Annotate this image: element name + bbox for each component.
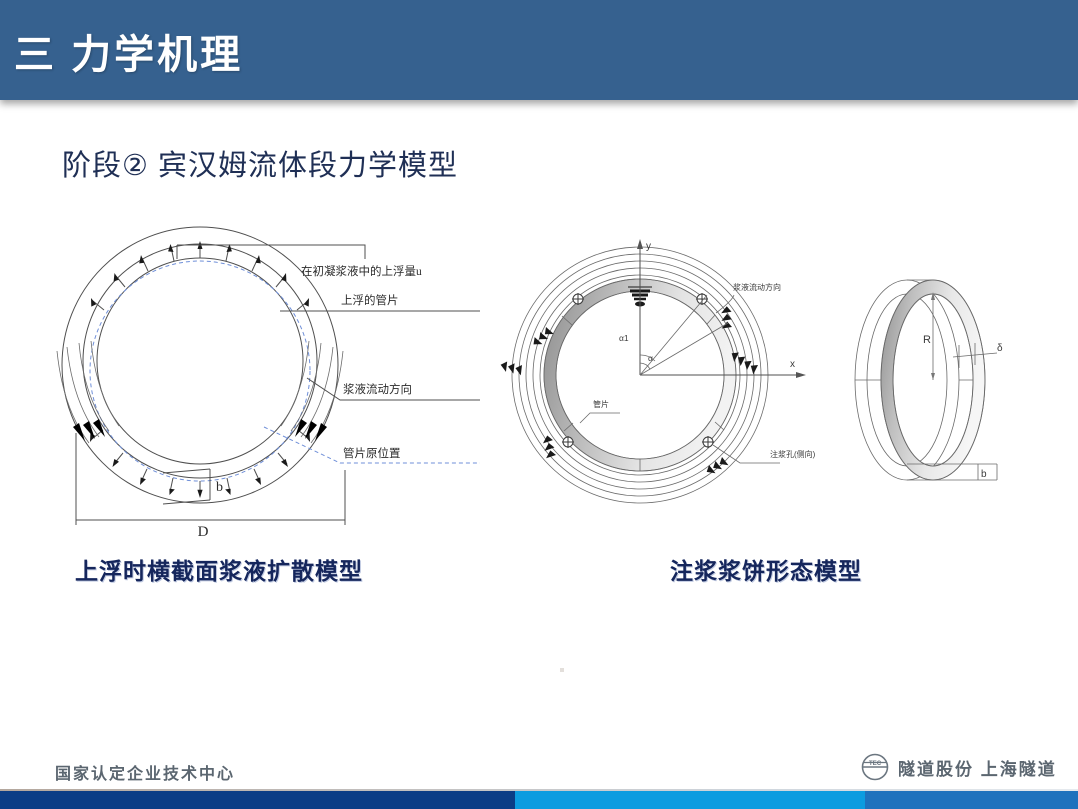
caption-left-figure: 上浮时横截面浆液扩散模型 xyxy=(75,552,363,586)
grout-holes xyxy=(562,293,714,448)
label-thickness: δ xyxy=(997,343,1003,354)
label-segment: 管片 xyxy=(593,399,609,409)
label-dim-b: b xyxy=(216,480,223,495)
footer-center-name: 国家认定企业技术中心 xyxy=(55,760,235,784)
bar-segment-cyan xyxy=(515,791,865,809)
stray-artifact-dot xyxy=(560,668,564,672)
page-title: 三 力学机理 xyxy=(14,22,243,80)
company-logo-text: 隧道股份 上海隧道 xyxy=(898,755,1057,780)
label-floated-segment: 上浮的管片 xyxy=(341,293,399,307)
company-logo: TEC 隧道股份 上海隧道 xyxy=(860,752,1057,782)
section-subtitle: 阶段② 宾汉姆流体段力学模型 xyxy=(62,142,458,184)
leader-segment xyxy=(580,413,620,423)
dimension-delta xyxy=(953,343,997,368)
figure-cross-section-diffusion: 在初凝浆液中的上浮量u 上浮的管片 浆液流动方向 管片原位置 b xyxy=(55,215,485,540)
footer-color-bar xyxy=(0,791,1078,809)
tec-logo-icon: TEC xyxy=(860,752,890,782)
bar-segment-blue xyxy=(865,791,1078,809)
figure-area: 在初凝浆液中的上浮量u 上浮的管片 浆液流动方向 管片原位置 b xyxy=(0,210,1078,560)
label-axis-x: x xyxy=(790,359,795,370)
label-dim-D: D xyxy=(198,524,209,540)
label-grout-flow: 浆液流动方向 xyxy=(343,382,412,396)
label-angle-alpha1: α1 xyxy=(619,333,629,343)
label-original-position: 管片原位置 xyxy=(343,446,401,460)
label-axis-y: y xyxy=(646,241,651,252)
uplift-arrow-group xyxy=(92,244,309,495)
label-radius: R xyxy=(923,334,931,346)
label-width-b: b xyxy=(981,469,987,480)
label-angle-alpha: α xyxy=(648,353,653,363)
slide-header-banner: 三 力学机理 xyxy=(0,0,1078,100)
figure-grout-cake-shape-model: R δ b xyxy=(845,265,1035,500)
figure-ring-grout-model: y x α1 α 浆液流动方向 管片 注浆孔(侧向) xyxy=(500,235,840,515)
bar-segment-navy xyxy=(0,791,515,809)
dimension-R xyxy=(931,292,935,380)
logo-mark-text: TEC xyxy=(869,760,882,767)
label-buoyancy: 在初凝浆液中的上浮量u xyxy=(301,264,422,278)
caption-right-figure: 注浆浆饼形态模型 xyxy=(670,552,862,586)
label-mid-grout-flow: 浆液流动方向 xyxy=(733,282,781,292)
label-grout-hole: 注浆孔(侧向) xyxy=(770,449,816,459)
uplift-arrowheads xyxy=(90,241,310,498)
